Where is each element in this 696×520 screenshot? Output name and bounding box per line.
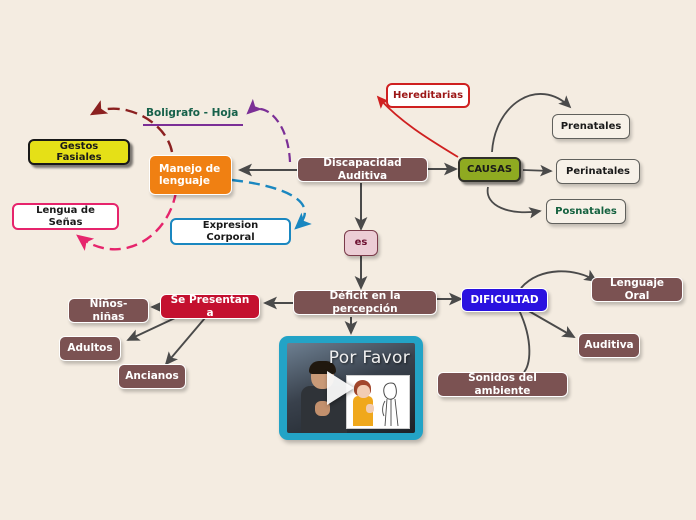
node-se-presentan-a[interactable]: Se Presentan a	[160, 294, 260, 319]
node-lengua-de-senas[interactable]: Lengua de Señas	[12, 203, 119, 230]
edge-sepresentan-to-ancianos	[166, 318, 205, 364]
node-discapacidad-auditiva[interactable]: Discapacidad Auditiva	[297, 157, 428, 182]
node-label: Expresion Corporal	[181, 220, 280, 243]
node-causas[interactable]: CAUSAS	[458, 157, 521, 182]
node-label: Lenguaje Oral	[601, 277, 673, 301]
node-label: Auditiva	[584, 339, 633, 351]
edge-layer	[0, 0, 696, 520]
video-frame[interactable]: Por Favor	[287, 343, 415, 433]
node-label: Manejo de lenguaje	[159, 163, 220, 187]
edge-dificultad-to-sonidos	[519, 310, 529, 372]
node-label: CAUSAS	[467, 164, 512, 176]
node-posnatales[interactable]: Posnatales	[546, 199, 626, 224]
node-manejo-de-lenguaje[interactable]: Manejo de lenguaje	[149, 155, 232, 195]
node-label: Lengua de Señas	[23, 205, 108, 228]
node-label: es	[355, 237, 368, 249]
node-sonidos-del-ambiente[interactable]: Sonidos del ambiente	[437, 372, 568, 397]
node-es[interactable]: es	[344, 230, 378, 256]
video-title-overlay: Por Favor	[329, 348, 410, 368]
video-thumbnail-card[interactable]: Por Favor	[279, 336, 423, 440]
node-label: Prenatales	[561, 121, 622, 133]
boligrafo-hoja-underline	[143, 124, 243, 126]
mindmap-canvas: Gestos Fasiales Manejo de lenguaje Lengu…	[0, 0, 696, 520]
node-label: Sonidos del ambiente	[447, 372, 558, 396]
node-expresion-corporal[interactable]: Expresion Corporal	[170, 218, 291, 245]
illustration-panel	[346, 375, 410, 429]
node-label: DIFICULTAD	[470, 294, 538, 306]
label-boligrafo-hoja: Boligrafo - Hoja	[146, 107, 238, 119]
node-label: Se Presentan a	[170, 294, 250, 318]
node-label: Ancianos	[125, 370, 178, 382]
illustration-girl-hand	[366, 404, 374, 413]
node-ninos-ninas[interactable]: Niños-niñas	[68, 298, 149, 323]
play-icon[interactable]	[327, 371, 354, 405]
node-hereditarias[interactable]: Hereditarias	[386, 83, 470, 108]
node-auditiva[interactable]: Auditiva	[578, 333, 640, 358]
illustration-line-drawing	[380, 380, 404, 426]
node-gestos-fasiales[interactable]: Gestos Fasiales	[28, 139, 130, 165]
node-prenatales[interactable]: Prenatales	[552, 114, 630, 139]
node-lenguaje-oral[interactable]: Lenguaje Oral	[591, 277, 683, 302]
node-label: Hereditarias	[393, 90, 463, 102]
edge-dificultad-to-auditiva	[527, 310, 574, 337]
node-label: Discapacidad Auditiva	[307, 157, 418, 181]
edge-causas-to-perinatales	[523, 170, 551, 171]
node-label: Perinatales	[566, 166, 630, 178]
node-label: Adultos	[67, 342, 112, 354]
node-deficit-percepcion[interactable]: Déficit en la percepción	[293, 290, 437, 315]
node-ancianos[interactable]: Ancianos	[118, 364, 186, 389]
edge-discapacidad-to-boligrafo	[248, 109, 290, 162]
node-label: Gestos Fasiales	[39, 141, 119, 164]
node-perinatales[interactable]: Perinatales	[556, 159, 640, 184]
edge-dificultad-to-lenguajeoral	[521, 271, 596, 288]
illustration-girl-face	[357, 385, 370, 398]
node-adultos[interactable]: Adultos	[59, 336, 121, 361]
node-dificultad[interactable]: DIFICULTAD	[461, 288, 548, 312]
node-label: Posnatales	[555, 206, 617, 218]
node-label: Déficit en la percepción	[303, 290, 427, 314]
edge-causas-to-posnatales	[488, 187, 540, 212]
node-label: Niños-niñas	[78, 298, 139, 322]
